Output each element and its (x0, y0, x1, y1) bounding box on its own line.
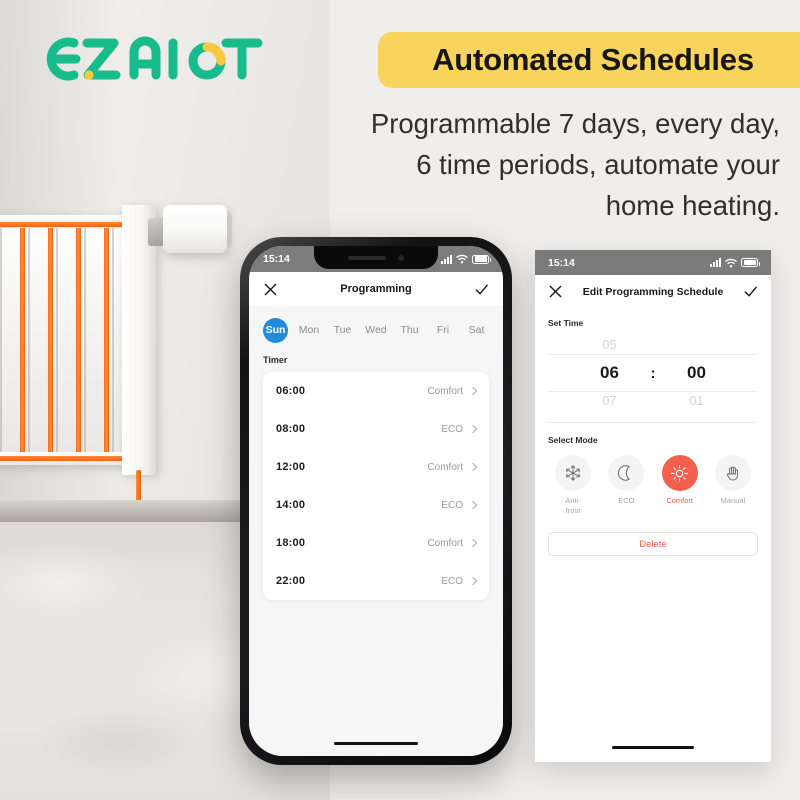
timer-mode: Comfort (427, 386, 463, 397)
picker-bottom-divider (548, 391, 758, 392)
status-time: 15:14 (263, 253, 290, 265)
day-chip-wed[interactable]: Wed (364, 318, 389, 343)
radiator-body (0, 215, 136, 465)
radiator-bottom-pipe (0, 456, 126, 461)
chevron-right-icon (469, 577, 477, 585)
timer-row-right: ECO (441, 424, 476, 435)
mode-circle (555, 455, 591, 491)
app-bar: Programming (249, 272, 503, 306)
battery-icon (741, 258, 758, 267)
subtitle-line-1: Programmable 7 days, every day, (250, 103, 780, 144)
timer-section-label: Timer (249, 351, 503, 372)
table-row[interactable]: 12:00 Comfort (263, 448, 489, 486)
chevron-right-icon (469, 387, 477, 395)
hour-wheel[interactable]: 05 06 07 (571, 363, 649, 383)
status-time: 15:14 (548, 257, 575, 269)
day-chip-fri[interactable]: Fri (431, 318, 456, 343)
table-row[interactable]: 14:00 ECO (263, 486, 489, 524)
timer-list: 06:00 Comfort 08:00 ECO 12:00 (263, 372, 489, 600)
timer-mode: ECO (441, 576, 463, 587)
mode-option-manual[interactable]: Manual (710, 455, 756, 516)
timer-time: 08:00 (276, 423, 305, 435)
timer-row-right: Comfort (427, 538, 476, 549)
mode-option-eco[interactable]: ECO (603, 455, 649, 516)
status-indicators (441, 254, 489, 264)
hour-next-value: 07 (571, 394, 649, 408)
status-bar: 15:14 (535, 250, 771, 275)
mode-circle (662, 455, 698, 491)
subtitle-line-2: 6 time periods, automate your (250, 144, 780, 185)
table-row[interactable]: 06:00 Comfort (263, 372, 489, 410)
moon-icon (617, 464, 635, 482)
chevron-right-icon (469, 539, 477, 547)
mode-label-line1: Manual (721, 496, 746, 505)
mode-circle (715, 455, 751, 491)
timer-mode: ECO (441, 500, 463, 511)
signal-icon (710, 258, 721, 267)
home-indicator[interactable] (612, 746, 694, 749)
table-row[interactable]: 08:00 ECO (263, 410, 489, 448)
mode-selector[interactable]: Anti- frost ECO (535, 447, 771, 516)
front-camera-icon (398, 255, 404, 261)
headline-banner: Automated Schedules (378, 32, 800, 88)
timer-time: 06:00 (276, 385, 305, 397)
day-chip-mon[interactable]: Mon (297, 318, 322, 343)
hour-prev-value: 05 (571, 338, 649, 352)
ezaiot-logo-icon (30, 30, 265, 88)
mode-label-line1: Anti- (565, 496, 580, 505)
app-bar: Edit Programming Schedule (535, 275, 771, 308)
programming-screen-body: Sun Mon Tue Wed Thu Fri Sat Timer 06:00 … (249, 306, 503, 756)
page-title: Programming (340, 283, 412, 295)
timer-row-right: ECO (441, 500, 476, 511)
check-icon[interactable] (743, 284, 758, 299)
status-indicators (710, 258, 758, 268)
signal-icon (441, 255, 452, 264)
logo-dot-accent (84, 70, 93, 79)
day-chip-sat[interactable]: Sat (464, 318, 489, 343)
brand-logo: EZAIoT (30, 30, 265, 88)
mode-label: Anti- frost (550, 496, 596, 516)
chevron-right-icon (469, 501, 477, 509)
picker-top-divider (548, 354, 758, 355)
close-icon[interactable] (548, 284, 563, 299)
hand-icon (724, 464, 742, 482)
page-title: Edit Programming Schedule (583, 286, 724, 298)
sun-icon (670, 464, 689, 483)
minute-next-value: 01 (658, 394, 736, 408)
set-time-label: Set Time (535, 308, 771, 330)
radiator-top-pipe (0, 222, 126, 227)
phone-left-screen: 15:14 Programming Sun (249, 246, 503, 756)
close-icon[interactable] (263, 282, 278, 297)
phone-mockup-right: 15:14 Edit Programming Schedule Set Time… (535, 250, 771, 762)
day-chip-sun[interactable]: Sun (263, 318, 288, 343)
table-row[interactable]: 18:00 Comfort (263, 524, 489, 562)
timer-mode: Comfort (427, 538, 463, 549)
day-chip-tue[interactable]: Tue (330, 318, 355, 343)
day-chip-thu[interactable]: Thu (397, 318, 422, 343)
mode-label-line2: frost (566, 506, 581, 515)
timer-mode: ECO (441, 424, 463, 435)
home-indicator[interactable] (334, 742, 418, 745)
wifi-icon (725, 258, 737, 268)
phone-notch (314, 246, 438, 269)
mode-label-line1: ECO (618, 496, 634, 505)
mode-label: Manual (710, 496, 756, 506)
earpiece-speaker-icon (348, 256, 386, 260)
check-icon[interactable] (474, 282, 489, 297)
logo-arc-accent (207, 47, 221, 61)
day-selector[interactable]: Sun Mon Tue Wed Thu Fri Sat (249, 306, 503, 351)
chevron-right-icon (469, 463, 477, 471)
delete-button[interactable]: Delete (548, 532, 758, 556)
chevron-right-icon (469, 425, 477, 433)
mode-option-comfort[interactable]: Comfort (657, 455, 703, 516)
timer-row-right: ECO (441, 576, 476, 587)
timer-row-right: Comfort (427, 386, 476, 397)
time-picker[interactable]: 05 06 07 : 00 01 (535, 330, 771, 416)
timer-mode: Comfort (427, 462, 463, 473)
snowflake-icon (564, 464, 582, 482)
subtitle-block: Programmable 7 days, every day, 6 time p… (250, 103, 780, 226)
timer-time: 14:00 (276, 499, 305, 511)
mode-label: Comfort (657, 496, 703, 506)
minute-wheel[interactable]: 00 01 (658, 363, 736, 383)
time-separator: : (649, 365, 658, 382)
mode-label: ECO (603, 496, 649, 506)
phone-mockup-left: 15:14 Programming Sun (240, 237, 512, 765)
headline-text: Automated Schedules (432, 42, 754, 78)
select-mode-label: Select Mode (535, 423, 771, 447)
smart-radiator-valve (163, 205, 227, 253)
mode-circle (608, 455, 644, 491)
timer-time: 12:00 (276, 461, 305, 473)
mode-label-line1: Comfort (666, 496, 693, 505)
minute-current-value: 00 (658, 363, 736, 383)
timer-time: 22:00 (276, 575, 305, 587)
table-row[interactable]: 22:00 ECO (263, 562, 489, 600)
wifi-icon (456, 254, 468, 264)
mode-option-anti-frost[interactable]: Anti- frost (550, 455, 596, 516)
hour-current-value: 06 (571, 363, 649, 383)
timer-time: 18:00 (276, 537, 305, 549)
timer-row-right: Comfort (427, 462, 476, 473)
subtitle-line-3: home heating. (250, 185, 780, 226)
battery-icon (472, 255, 489, 264)
